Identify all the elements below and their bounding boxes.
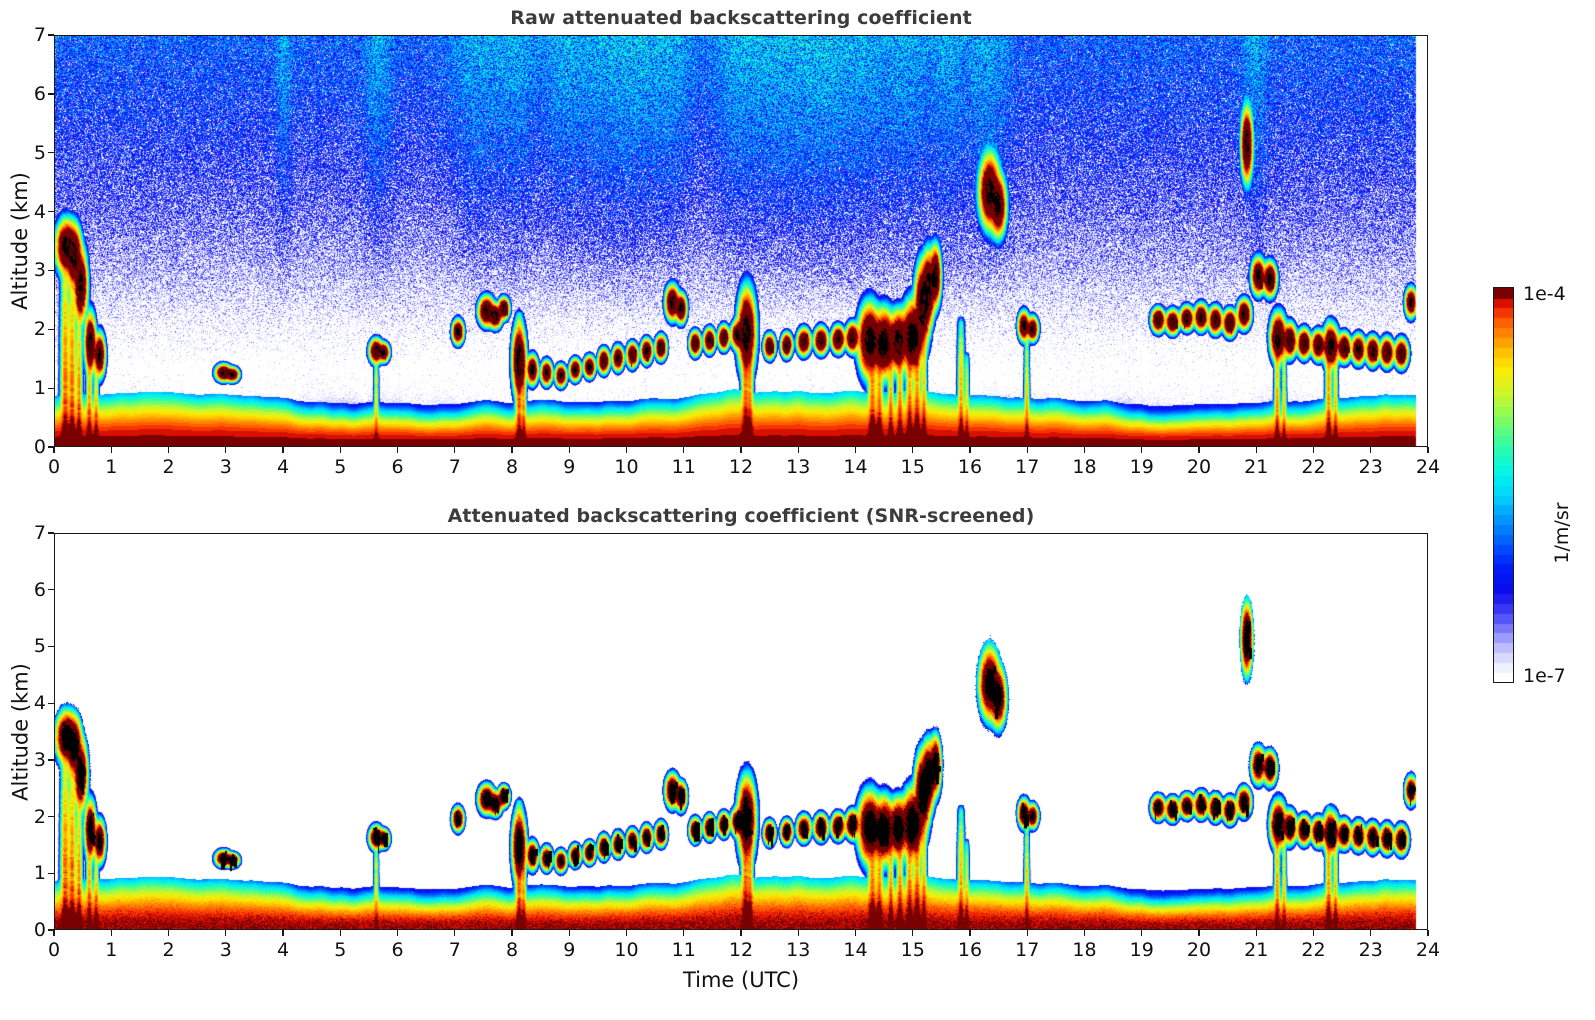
x-tick-label-screened-4: 4	[277, 939, 289, 961]
x-tick-screened-4	[282, 930, 283, 936]
x-tick-label-screened-10: 10	[614, 939, 638, 961]
x-tick-label-screened-13: 13	[786, 939, 810, 961]
x-tick-raw-0	[53, 447, 54, 453]
x-tick-raw-12	[740, 447, 741, 453]
y-tick-raw-0	[48, 446, 54, 447]
x-tick-screened-9	[569, 930, 570, 936]
x-tick-label-raw-15: 15	[901, 456, 925, 478]
x-tick-screened-11	[683, 930, 684, 936]
x-tick-label-screened-14: 14	[843, 939, 867, 961]
x-tick-raw-14	[855, 447, 856, 453]
x-tick-label-raw-21: 21	[1244, 456, 1268, 478]
y-tick-label-raw-1: 1	[20, 377, 46, 399]
x-tick-label-screened-12: 12	[729, 939, 753, 961]
y-tick-raw-3	[48, 270, 54, 271]
x-tick-label-screened-3: 3	[220, 939, 232, 961]
x-tick-screened-8	[511, 930, 512, 936]
y-tick-raw-5	[48, 152, 54, 153]
x-tick-screened-10	[626, 930, 627, 936]
y-tick-label-screened-0: 0	[20, 919, 46, 941]
y-tick-screened-1	[48, 873, 54, 874]
x-tick-label-raw-19: 19	[1130, 456, 1154, 478]
plot-area-screened	[54, 533, 1428, 930]
x-tick-raw-18	[1084, 447, 1085, 453]
x-tick-label-raw-18: 18	[1072, 456, 1096, 478]
colorbar-canvas	[1494, 288, 1513, 682]
x-tick-label-raw-13: 13	[786, 456, 810, 478]
x-tick-label-screened-6: 6	[391, 939, 403, 961]
x-tick-raw-15	[912, 447, 913, 453]
y-tick-raw-7	[48, 34, 54, 35]
y-tick-label-screened-7: 7	[20, 522, 46, 544]
x-tick-raw-19	[1141, 447, 1142, 453]
x-tick-label-raw-20: 20	[1187, 456, 1211, 478]
x-tick-screened-19	[1141, 930, 1142, 936]
x-tick-raw-21	[1256, 447, 1257, 453]
x-tick-label-screened-11: 11	[672, 939, 696, 961]
x-tick-label-raw-2: 2	[162, 456, 174, 478]
x-tick-label-raw-9: 9	[563, 456, 575, 478]
y-tick-raw-1	[48, 388, 54, 389]
x-tick-label-raw-17: 17	[1015, 456, 1039, 478]
x-tick-label-screened-0: 0	[48, 939, 60, 961]
x-tick-label-raw-16: 16	[958, 456, 982, 478]
x-tick-raw-13	[798, 447, 799, 453]
x-tick-screened-18	[1084, 930, 1085, 936]
x-tick-raw-17	[1027, 447, 1028, 453]
panel-title-screened: Attenuated backscattering coefficient (S…	[54, 505, 1428, 527]
x-tick-label-screened-1: 1	[105, 939, 117, 961]
x-tick-raw-20	[1198, 447, 1199, 453]
x-tick-label-raw-5: 5	[334, 456, 346, 478]
x-tick-label-raw-24: 24	[1416, 456, 1440, 478]
y-tick-label-screened-4: 4	[20, 692, 46, 714]
y-tick-label-screened-2: 2	[20, 806, 46, 828]
y-tick-screened-6	[48, 589, 54, 590]
y-tick-screened-0	[48, 929, 54, 930]
y-tick-label-raw-3: 3	[20, 259, 46, 281]
y-tick-screened-7	[48, 532, 54, 533]
x-tick-label-screened-7: 7	[449, 939, 461, 961]
x-tick-label-screened-21: 21	[1244, 939, 1268, 961]
x-tick-raw-6	[397, 447, 398, 453]
x-tick-raw-5	[340, 447, 341, 453]
panel-title-raw: Raw attenuated backscattering coefficien…	[54, 7, 1428, 29]
x-tick-screened-0	[53, 930, 54, 936]
x-tick-label-screened-19: 19	[1130, 939, 1154, 961]
x-tick-screened-2	[168, 930, 169, 936]
y-tick-label-raw-2: 2	[20, 318, 46, 340]
x-tick-raw-3	[225, 447, 226, 453]
x-tick-raw-22	[1313, 447, 1314, 453]
x-tick-label-screened-20: 20	[1187, 939, 1211, 961]
x-tick-screened-23	[1370, 930, 1371, 936]
x-tick-label-screened-18: 18	[1072, 939, 1096, 961]
x-tick-label-raw-8: 8	[506, 456, 518, 478]
y-tick-label-screened-5: 5	[20, 635, 46, 657]
y-tick-screened-2	[48, 816, 54, 817]
x-tick-raw-10	[626, 447, 627, 453]
x-tick-label-screened-24: 24	[1416, 939, 1440, 961]
x-tick-screened-13	[798, 930, 799, 936]
x-tick-label-raw-6: 6	[391, 456, 403, 478]
x-tick-screened-16	[969, 930, 970, 936]
x-tick-label-screened-2: 2	[162, 939, 174, 961]
x-tick-raw-8	[511, 447, 512, 453]
y-tick-label-screened-3: 3	[20, 749, 46, 771]
y-tick-label-screened-6: 6	[20, 579, 46, 601]
heatmap-canvas-raw	[55, 36, 1427, 446]
heatmap-canvas-screened	[55, 534, 1427, 929]
x-tick-label-raw-14: 14	[843, 456, 867, 478]
x-tick-screened-1	[111, 930, 112, 936]
x-tick-label-screened-22: 22	[1301, 939, 1325, 961]
x-tick-label-screened-15: 15	[901, 939, 925, 961]
x-tick-raw-9	[569, 447, 570, 453]
x-tick-screened-17	[1027, 930, 1028, 936]
y-tick-screened-4	[48, 703, 54, 704]
x-tick-label-raw-12: 12	[729, 456, 753, 478]
x-tick-raw-23	[1370, 447, 1371, 453]
x-tick-raw-4	[282, 447, 283, 453]
colorbar-min-label: 1e-7	[1523, 665, 1566, 687]
y-tick-screened-3	[48, 759, 54, 760]
x-tick-label-raw-10: 10	[614, 456, 638, 478]
x-tick-label-raw-3: 3	[220, 456, 232, 478]
x-tick-label-screened-8: 8	[506, 939, 518, 961]
figure-root: Raw attenuated backscattering coefficien…	[0, 0, 1595, 1020]
y-tick-label-raw-4: 4	[20, 201, 46, 223]
x-tick-label-screened-9: 9	[563, 939, 575, 961]
x-tick-raw-2	[168, 447, 169, 453]
colorbar-title: 1/m/sr	[1549, 463, 1575, 603]
x-tick-raw-7	[454, 447, 455, 453]
y-tick-raw-6	[48, 93, 54, 94]
x-tick-raw-1	[111, 447, 112, 453]
colorbar	[1493, 287, 1514, 683]
x-tick-label-screened-23: 23	[1359, 939, 1383, 961]
x-tick-screened-5	[340, 930, 341, 936]
x-tick-screened-24	[1427, 930, 1428, 936]
x-tick-label-raw-7: 7	[449, 456, 461, 478]
x-tick-label-raw-0: 0	[48, 456, 60, 478]
y-tick-label-raw-7: 7	[20, 24, 46, 46]
colorbar-max-label: 1e-4	[1523, 283, 1566, 305]
x-tick-label-raw-1: 1	[105, 456, 117, 478]
x-tick-screened-14	[855, 930, 856, 936]
plot-area-raw	[54, 35, 1428, 447]
x-tick-label-screened-16: 16	[958, 939, 982, 961]
y-tick-label-raw-0: 0	[20, 436, 46, 458]
x-tick-screened-7	[454, 930, 455, 936]
x-tick-raw-11	[683, 447, 684, 453]
y-tick-label-screened-1: 1	[20, 862, 46, 884]
y-tick-label-raw-6: 6	[20, 83, 46, 105]
x-tick-label-raw-4: 4	[277, 456, 289, 478]
y-tick-raw-4	[48, 211, 54, 212]
x-tick-screened-6	[397, 930, 398, 936]
x-tick-label-raw-23: 23	[1359, 456, 1383, 478]
x-tick-label-raw-11: 11	[672, 456, 696, 478]
x-tick-screened-3	[225, 930, 226, 936]
x-tick-label-screened-5: 5	[334, 939, 346, 961]
x-tick-label-screened-17: 17	[1015, 939, 1039, 961]
y-tick-screened-5	[48, 646, 54, 647]
x-tick-screened-21	[1256, 930, 1257, 936]
x-tick-label-raw-22: 22	[1301, 456, 1325, 478]
x-tick-screened-20	[1198, 930, 1199, 936]
x-tick-screened-15	[912, 930, 913, 936]
x-tick-screened-12	[740, 930, 741, 936]
x-tick-screened-22	[1313, 930, 1314, 936]
y-tick-label-raw-5: 5	[20, 142, 46, 164]
x-tick-raw-24	[1427, 447, 1428, 453]
x-axis-label: Time (UTC)	[54, 968, 1428, 992]
x-tick-raw-16	[969, 447, 970, 453]
y-tick-raw-2	[48, 329, 54, 330]
